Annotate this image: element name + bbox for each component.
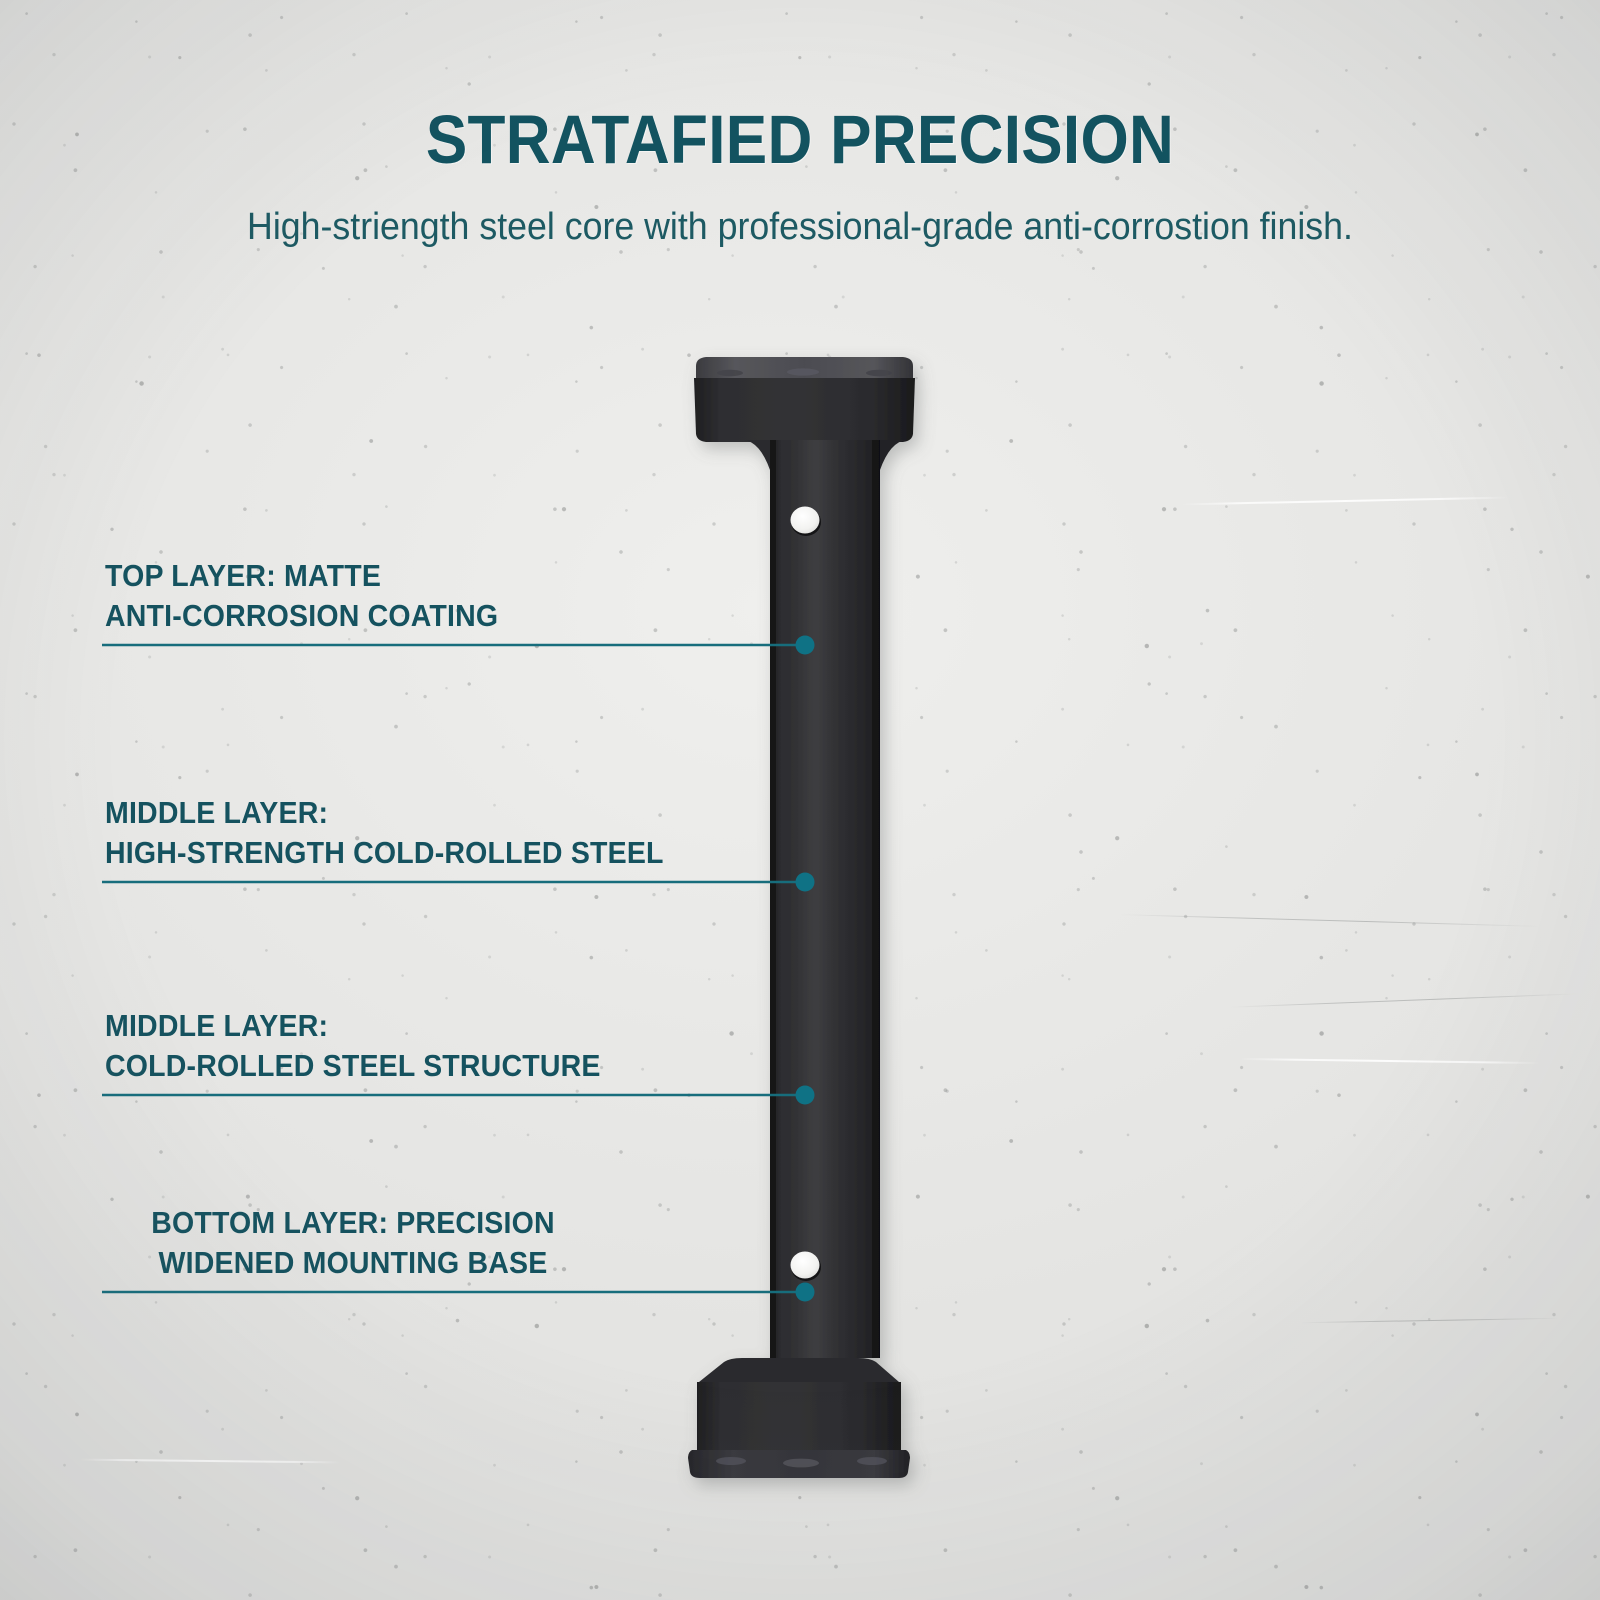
infographic-canvas: STRATAFIED PRECISION High-striength stee… bbox=[0, 0, 1600, 1600]
edge-vignette bbox=[0, 0, 1600, 1600]
